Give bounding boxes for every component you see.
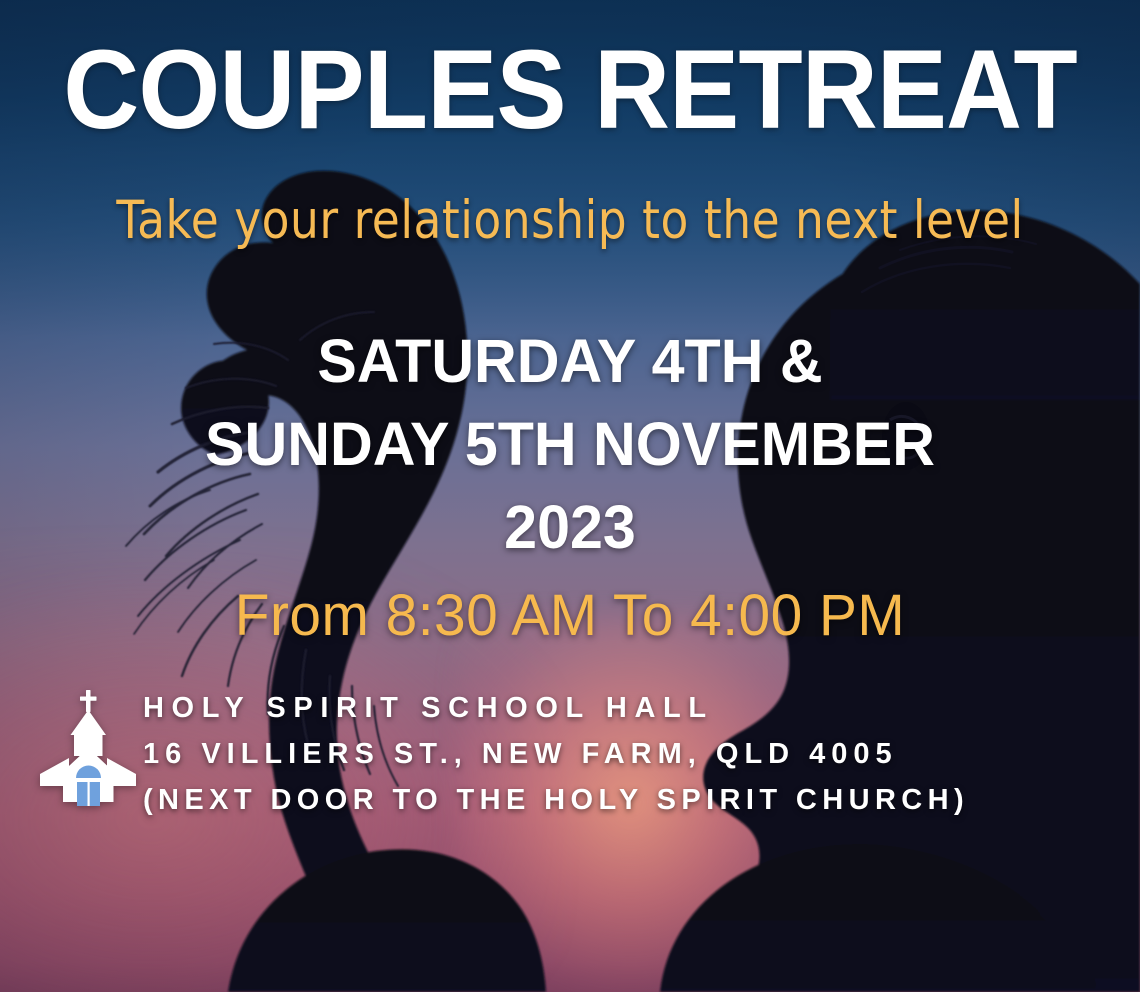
poster-canvas: COUPLES RETREAT Take your relationship t… [0, 0, 1140, 992]
venue-address-block: HOLY SPIRIT SCHOOL HALL 16 VILLIERS ST.,… [143, 686, 969, 823]
event-time: From 8:30 AM To 4:00 PM [11, 586, 1128, 647]
venue-line-note: (NEXT DOOR TO THE HOLY SPIRIT CHURCH) [143, 778, 969, 824]
date-line-1: SATURDAY 4TH & [17, 320, 1123, 403]
page-title: COUPLES RETREAT [34, 34, 1106, 146]
venue-line-name: HOLY SPIRIT SCHOOL HALL [143, 686, 969, 732]
date-line-2: SUNDAY 5TH NOVEMBER [17, 403, 1123, 486]
event-date-block: SATURDAY 4TH & SUNDAY 5TH NOVEMBER 2023 [17, 320, 1123, 569]
venue-line-street: 16 VILLIERS ST., NEW FARM, QLD 4005 [143, 732, 969, 778]
date-line-3: 2023 [17, 486, 1123, 569]
poster-subtitle: Take your relationship to the next level [6, 193, 1135, 248]
